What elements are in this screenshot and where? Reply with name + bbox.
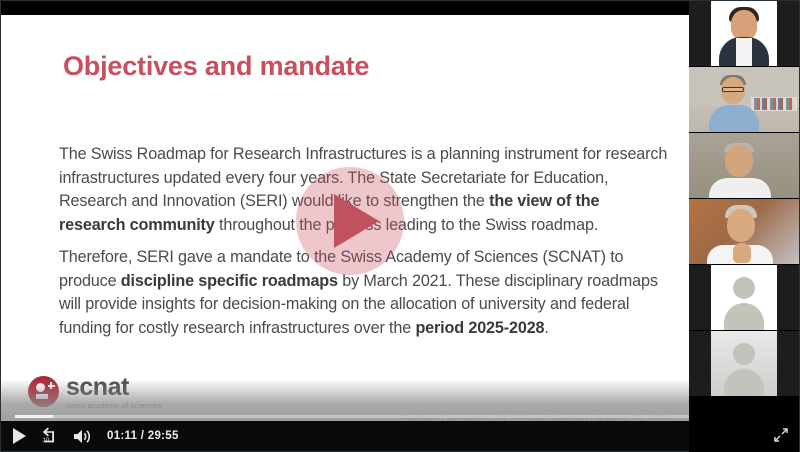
scnat-tagline: swiss academy of sciences: [66, 402, 161, 409]
progress-bar-fill: [15, 415, 53, 418]
body-text: .: [544, 319, 548, 337]
scnat-wordmark: scnat: [66, 375, 161, 400]
avatar-body: [709, 105, 759, 133]
participant-placeholder-6: [711, 331, 777, 397]
slide-title: Objectives and mandate: [63, 51, 369, 82]
avatar-placeholder-body: [724, 303, 764, 331]
progress-bar[interactable]: [15, 415, 691, 418]
avatar-shirt: [736, 38, 752, 67]
video-stage[interactable]: Objectives and mandate The Swiss Roadmap…: [1, 1, 691, 451]
play-icon: [13, 428, 26, 444]
participant-video-4: [689, 199, 799, 265]
participant-video-1: [711, 1, 777, 67]
video-player-window: Objectives and mandate The Swiss Roadmap…: [0, 0, 800, 452]
time-display: 01:11 / 29:55: [107, 430, 179, 442]
volume-button[interactable]: [73, 425, 93, 447]
play-button[interactable]: [13, 425, 26, 447]
scnat-logo-mark: [28, 376, 59, 407]
books: [754, 98, 794, 110]
participant-tile-6[interactable]: [689, 331, 799, 397]
scnat-logo: scnat swiss academy of sciences: [28, 375, 161, 409]
avatar-placeholder-icon: [733, 277, 755, 299]
rail-empty-area: [689, 397, 799, 452]
avatar-placeholder-body: [724, 369, 764, 397]
participant-video-2: [689, 67, 799, 133]
expand-icon: [773, 427, 789, 443]
play-overlay-button[interactable]: [296, 167, 404, 275]
volume-icon: [73, 428, 93, 445]
emphasis-text: period 2025-2028: [415, 319, 544, 337]
svg-text:10: 10: [43, 438, 50, 444]
emphasis-text: discipline specific roadmaps: [121, 272, 338, 290]
replay-10-icon: 10: [40, 427, 59, 445]
fullscreen-button[interactable]: [773, 427, 789, 443]
participant-tile-3[interactable]: [689, 133, 799, 199]
avatar-body: [709, 178, 771, 199]
avatar-head: [725, 145, 753, 177]
participant-placeholder-5: [711, 265, 777, 331]
body-text: throughout the process leading to the Sw…: [215, 216, 598, 234]
participant-tile-5[interactable]: [689, 265, 799, 331]
participant-tile-4[interactable]: [689, 199, 799, 265]
avatar-placeholder-icon: [733, 343, 755, 365]
scnat-logo-text: scnat swiss academy of sciences: [66, 375, 161, 409]
swiss-cross-icon: [48, 382, 55, 389]
avatar-head: [727, 209, 755, 242]
avatar-hands: [733, 243, 751, 263]
participant-tile-1[interactable]: [689, 1, 799, 67]
participant-video-3: [689, 133, 799, 199]
player-controls: 10 01:11 / 29:55: [1, 421, 691, 451]
glasses-icon: [722, 87, 744, 92]
replay-10-button[interactable]: 10: [40, 425, 59, 447]
participant-tile-2[interactable]: [689, 67, 799, 133]
participant-rail: [689, 1, 799, 452]
